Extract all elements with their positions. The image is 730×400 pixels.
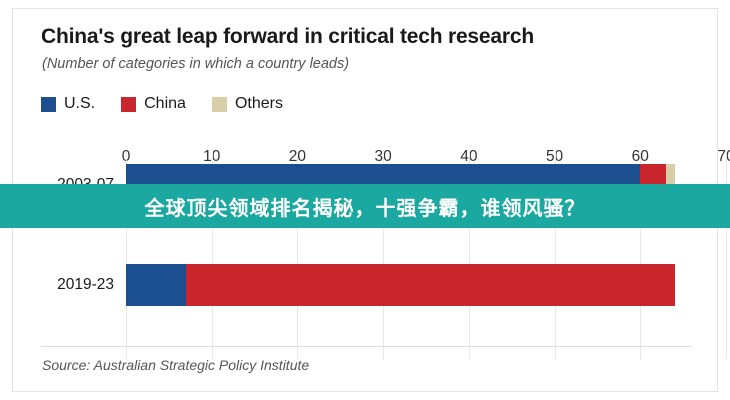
legend-swatch-us [41,97,56,112]
legend-swatch-china [121,97,136,112]
legend-item-others: Others [212,95,283,113]
overlay-banner: 全球顶尖领域排名揭秘，十强争霸，谁领风骚？ [0,184,730,228]
legend-swatch-others [212,97,227,112]
legend-item-china: China [121,95,186,113]
overlay-banner-text: 全球顶尖领域排名揭秘，十强争霸，谁领风骚？ [145,192,586,221]
chart-source: Source: Australian Strategic Policy Inst… [42,357,309,373]
bar-segment-us [126,264,186,306]
legend-label-us: U.S. [64,95,95,113]
bar-segment-china [186,264,675,306]
bar-row: 2019-23 [126,264,726,306]
screenshot-root: China's great leap forward in critical t… [0,0,730,400]
legend-label-others: Others [235,95,283,113]
chart-subtitle: (Number of categories in which a country… [42,56,349,72]
legend-item-us: U.S. [41,95,95,113]
chart-legend: U.S. China Others [41,95,283,113]
bar-row-label: 2019-23 [57,277,114,293]
source-divider [41,346,691,347]
chart-title: China's great leap forward in critical t… [41,25,534,49]
legend-label-china: China [144,95,186,113]
